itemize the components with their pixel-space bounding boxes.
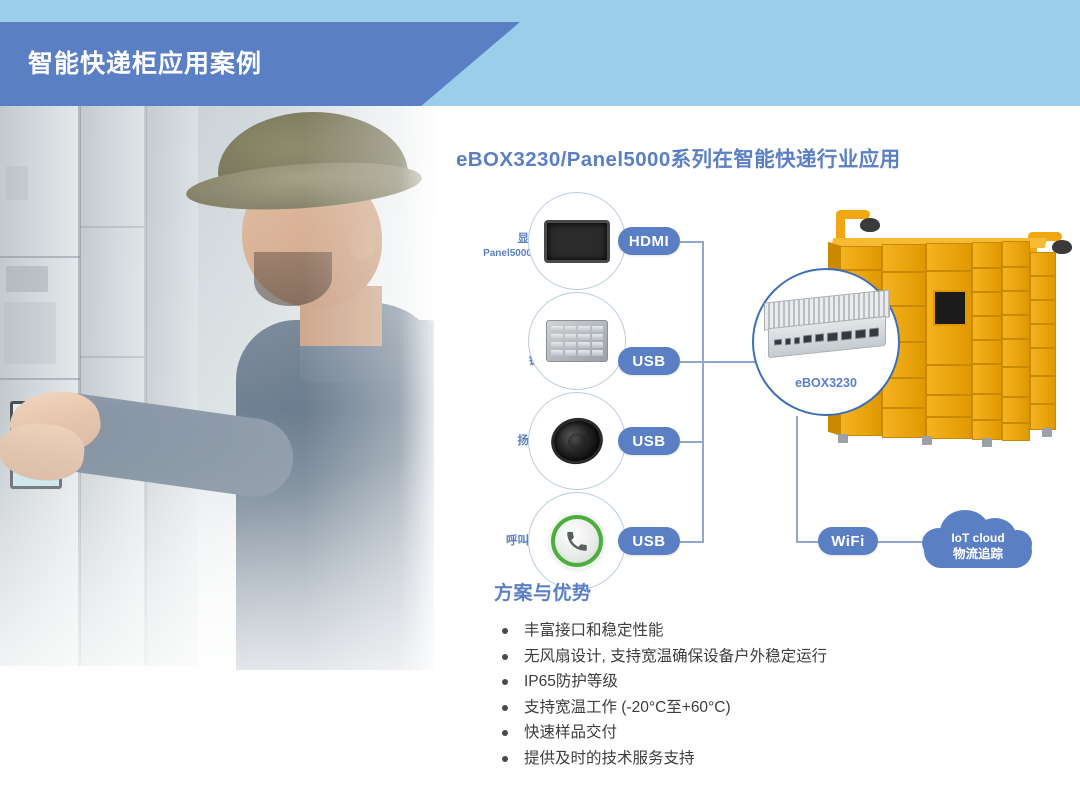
cabinet-open-compartment <box>933 290 967 326</box>
wire-vertical-bus <box>702 241 704 542</box>
top-accent-strip <box>0 0 1080 22</box>
cabinet-foot <box>922 436 932 445</box>
wire-usb3-to-bus <box>680 541 704 543</box>
locker-panel <box>4 302 56 364</box>
scene-photo <box>0 106 434 795</box>
advantages-title: 方案与优势 <box>494 578 1054 605</box>
cabinet-column <box>1030 252 1056 430</box>
locker-handle <box>6 266 48 292</box>
device-circle-keypad <box>528 292 626 390</box>
cabinet-foot <box>1042 428 1052 437</box>
keypad-icon <box>546 320 608 362</box>
port-badge-usb-keypad[interactable]: USB <box>618 347 680 375</box>
wire-usb2-to-bus <box>680 441 704 443</box>
cabinet-foot <box>838 434 848 443</box>
wire-hdmi-to-bus <box>680 241 704 243</box>
locker-seam <box>80 356 144 358</box>
architecture-diagram: 显示器 Panel5000系列 HDMI 键盘 USB 扬声器 <box>434 186 1080 566</box>
list-item: 无风扇设计, 支持宽温确保设备户外稳定运行 <box>494 644 1054 670</box>
wire-ebox-to-wifi <box>796 416 798 542</box>
cabinet-foot <box>982 438 992 447</box>
cabinet-column-kiosk <box>926 243 972 439</box>
controller-name: eBOX3230 <box>752 376 900 390</box>
section-title: eBOX3230/Panel5000系列在智能快递行业应用 <box>456 142 901 172</box>
slide-page: 智能快递柜应用案例 <box>0 0 1080 795</box>
locker-column <box>80 106 146 666</box>
content-panel: eBOX3230/Panel5000系列在智能快递行业应用 显示器 <box>434 106 1080 795</box>
fanless-pc-icon <box>764 296 890 354</box>
call-button-icon <box>551 515 603 567</box>
cabinet-column <box>1002 241 1030 441</box>
person-ear <box>348 224 376 260</box>
device-circle-monitor <box>528 192 626 290</box>
list-item: 提供及时的技术服务支持 <box>494 746 1054 772</box>
cloud-label: IoT cloud 物流追踪 <box>922 530 1034 562</box>
device-circle-speaker <box>528 392 626 490</box>
speaker-icon <box>547 413 607 469</box>
locker-seam <box>0 256 80 258</box>
person-figure <box>150 106 434 666</box>
locker-seam <box>0 378 80 380</box>
cabinet-column <box>972 242 1002 440</box>
wire-wifi-to-cloud <box>878 541 922 543</box>
port-badge-hdmi[interactable]: HDMI <box>618 227 680 255</box>
locker-seam <box>144 106 147 666</box>
wifi-badge[interactable]: WiFi <box>818 527 878 555</box>
list-item: 快速样品交付 <box>494 720 1054 746</box>
phone-glyph <box>564 528 590 554</box>
device-circle-call-button <box>528 492 626 590</box>
page-title: 智能快递柜应用案例 <box>28 44 262 80</box>
camera-icon <box>860 218 880 232</box>
advantages-section: 方案与优势 丰富接口和稳定性能 无风扇设计, 支持宽温确保设备户外稳定运行 IP… <box>494 578 1054 771</box>
locker-seam <box>80 226 144 228</box>
port-badge-usb-call-button[interactable]: USB <box>618 527 680 555</box>
list-item: IP65防护等级 <box>494 669 1054 695</box>
wire-usb1-to-bus <box>680 361 704 363</box>
locker-seam <box>78 106 81 666</box>
port-badge-usb-speaker[interactable]: USB <box>618 427 680 455</box>
list-item: 支持宽温工作 (-20°C至+60°C) <box>494 695 1054 721</box>
locker-handle <box>6 166 28 200</box>
monitor-icon <box>544 220 610 263</box>
wire-ebox-to-wifi-stub <box>796 541 818 543</box>
list-item: 丰富接口和稳定性能 <box>494 618 1054 644</box>
wire-bus-to-ebox <box>702 361 762 363</box>
advantages-list: 丰富接口和稳定性能 无风扇设计, 支持宽温确保设备户外稳定运行 IP65防护等级… <box>494 618 1054 771</box>
